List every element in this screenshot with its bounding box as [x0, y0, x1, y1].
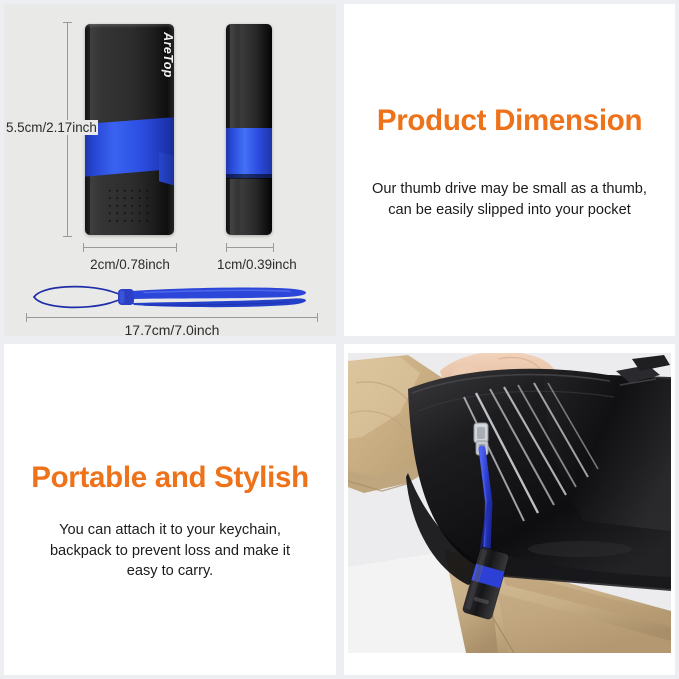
- product-dimension-body-line-1: Our thumb drive may be small as a thumb,: [360, 179, 659, 200]
- brand-logo-text: AreTop: [161, 32, 174, 78]
- front-width-measure-line: [83, 247, 177, 248]
- product-dimension-heading: Product Dimension: [360, 105, 659, 137]
- panel-product-dimension-diagram: AreTop 5.5cm/2.17inch 2cm/0.78inch 1cm/0…: [4, 4, 336, 336]
- panel-lifestyle-photo: [344, 344, 675, 675]
- panel-portable-stylish-text: Portable and Stylish You can attach it t…: [4, 344, 336, 675]
- side-width-measure-line: [226, 247, 274, 248]
- lanyard-length-measure-label: 17.7cm/7.0inch: [26, 322, 318, 336]
- height-measure-label: 5.5cm/2.17inch: [5, 120, 98, 135]
- portable-stylish-body-wrap: You can attach it to your keychain, back…: [4, 520, 336, 582]
- lifestyle-photo-image: [348, 353, 671, 653]
- usb-drive-front-view: AreTop: [85, 24, 174, 235]
- front-width-measure-label: 2cm/0.78inch: [83, 257, 177, 272]
- lanyard-length-measure-line: [26, 317, 318, 318]
- side-width-measure-label: 1cm/0.39inch: [217, 257, 283, 272]
- drive-vent-dot-grid: [106, 187, 153, 226]
- drive-blue-band-tab: [159, 152, 174, 186]
- product-dimension-heading-wrap: Product Dimension: [344, 105, 675, 137]
- portable-stylish-heading: Portable and Stylish: [20, 462, 320, 494]
- product-infographic: AreTop 5.5cm/2.17inch 2cm/0.78inch 1cm/0…: [0, 0, 679, 679]
- dimension-diagram: AreTop 5.5cm/2.17inch 2cm/0.78inch 1cm/0…: [4, 4, 336, 336]
- product-dimension-body-line-2: can be easily slipped into your pocket: [360, 200, 659, 221]
- lanyard-illustration: [18, 279, 318, 320]
- product-dimension-body-wrap: Our thumb drive may be small as a thumb,…: [344, 179, 675, 220]
- panel-product-dimension-text: Product Dimension Our thumb drive may be…: [344, 4, 675, 336]
- usb-drive-side-view: [226, 24, 272, 235]
- portable-stylish-body-line-2: backpack to prevent loss and make it: [20, 541, 320, 562]
- portable-stylish-body-line-3: easy to carry.: [20, 561, 320, 582]
- portable-stylish-heading-wrap: Portable and Stylish: [4, 462, 336, 494]
- drive-side-seam: [226, 174, 272, 179]
- drive-side-blue-band: [226, 128, 272, 178]
- portable-stylish-body-line-1: You can attach it to your keychain,: [20, 520, 320, 541]
